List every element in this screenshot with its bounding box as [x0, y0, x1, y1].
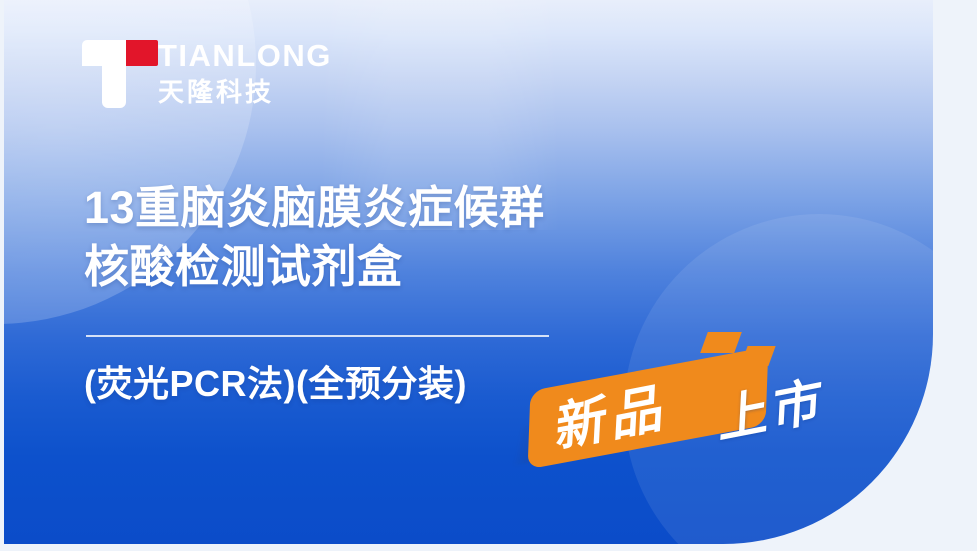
brand-logo-text: TIANLONG 天隆科技: [158, 38, 332, 108]
accent-block-3-icon: [716, 356, 754, 378]
new-product-badge: 新品 上市: [516, 330, 876, 490]
product-subtitle: (荧光PCR法)(全预分装): [84, 355, 467, 407]
tianlong-t-mark-icon: [82, 38, 144, 110]
headline-line-2: 核酸检测试剂盒: [84, 237, 545, 296]
logo-red-square-icon: [124, 40, 158, 66]
page-canvas: TIANLONG 天隆科技 13重脑炎脑膜炎症候群 核酸检测试剂盒 (荧光PCR…: [0, 0, 977, 551]
promo-banner-card: TIANLONG 天隆科技 13重脑炎脑膜炎症候群 核酸检测试剂盒 (荧光PCR…: [4, 0, 933, 544]
brand-name-cn: 天隆科技: [158, 76, 332, 109]
headline-line-1: 13重脑炎脑膜炎症候群: [84, 178, 545, 237]
brand-name-en: TIANLONG: [158, 40, 332, 73]
badge-plate-label: 新品: [547, 382, 671, 455]
product-headline: 13重脑炎脑膜炎症候群 核酸检测试剂盒: [84, 178, 545, 297]
brand-logo: TIANLONG 天隆科技: [82, 38, 332, 110]
logo-notch-icon: [102, 40, 126, 66]
badge-side-label: 上市: [711, 376, 827, 446]
accent-block-1-icon: [700, 332, 742, 353]
headline-divider: [86, 335, 549, 337]
